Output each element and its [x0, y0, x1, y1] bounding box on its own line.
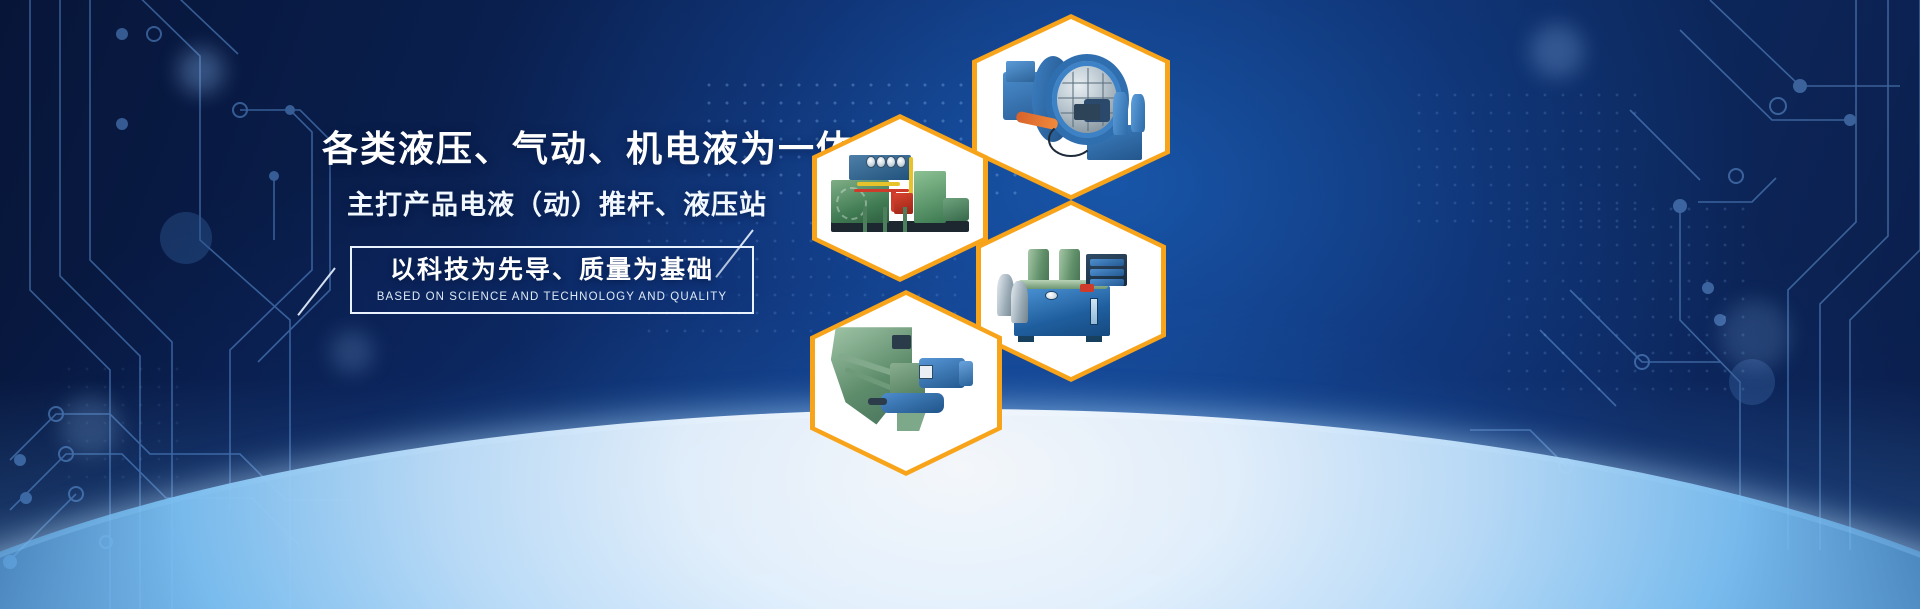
hydraulic-power-unit-illustration: [829, 141, 972, 255]
dot-grid-right-upper: [1410, 86, 1640, 236]
hero-copy: 各类液压、气动、机电液为一体 主打产品电液（动）推杆、液压站 以科技为先导、质量…: [322, 126, 792, 320]
glow-spot-2: [60, 396, 120, 456]
hex-station-photo: [981, 205, 1161, 377]
glow-spot-5: [330, 330, 374, 374]
hex-valve[interactable]: [972, 14, 1170, 200]
dot-grid-right-lower: [1500, 200, 1750, 400]
glow-spot-1: [178, 48, 224, 94]
page-subtitle: 主打产品电液（动）推杆、液压站: [322, 183, 792, 222]
slogan-box: 以科技为先导、质量为基础 BASED ON SCIENCE AND TECHNO…: [350, 246, 754, 314]
slogan-chinese: 以科技为先导、质量为基础: [390, 257, 714, 285]
circuit-traces-right: [1380, 0, 1920, 550]
hero-banner: 各类液压、气动、机电液为一体 主打产品电液（动）推杆、液压站 以科技为先导、质量…: [0, 0, 1920, 609]
accent-line-left: [297, 267, 336, 316]
slogan-english: BASED ON SCIENCE AND TECHNOLOGY AND QUAL…: [377, 291, 727, 303]
hex-power-unit-photo: [817, 119, 983, 277]
page-title: 各类液压、气动、机电液为一体: [322, 126, 792, 171]
hex-station[interactable]: [976, 200, 1166, 382]
hex-valve-photo: [977, 19, 1165, 195]
butterfly-valve-illustration: [990, 44, 1152, 171]
glow-spot-3: [1530, 24, 1584, 78]
hex-gate-pusher[interactable]: [810, 290, 1002, 476]
hydraulic-station-illustration: [994, 229, 1149, 353]
glow-spot-4: [1720, 300, 1790, 370]
hex-gate-pusher-photo: [815, 295, 997, 471]
slogan-block: 以科技为先导、质量为基础 BASED ON SCIENCE AND TECHNO…: [322, 246, 792, 320]
dot-grid-left-low: [60, 360, 180, 480]
gate-valve-pusher-illustration: [828, 320, 985, 447]
background-decoration: [0, 0, 1920, 609]
